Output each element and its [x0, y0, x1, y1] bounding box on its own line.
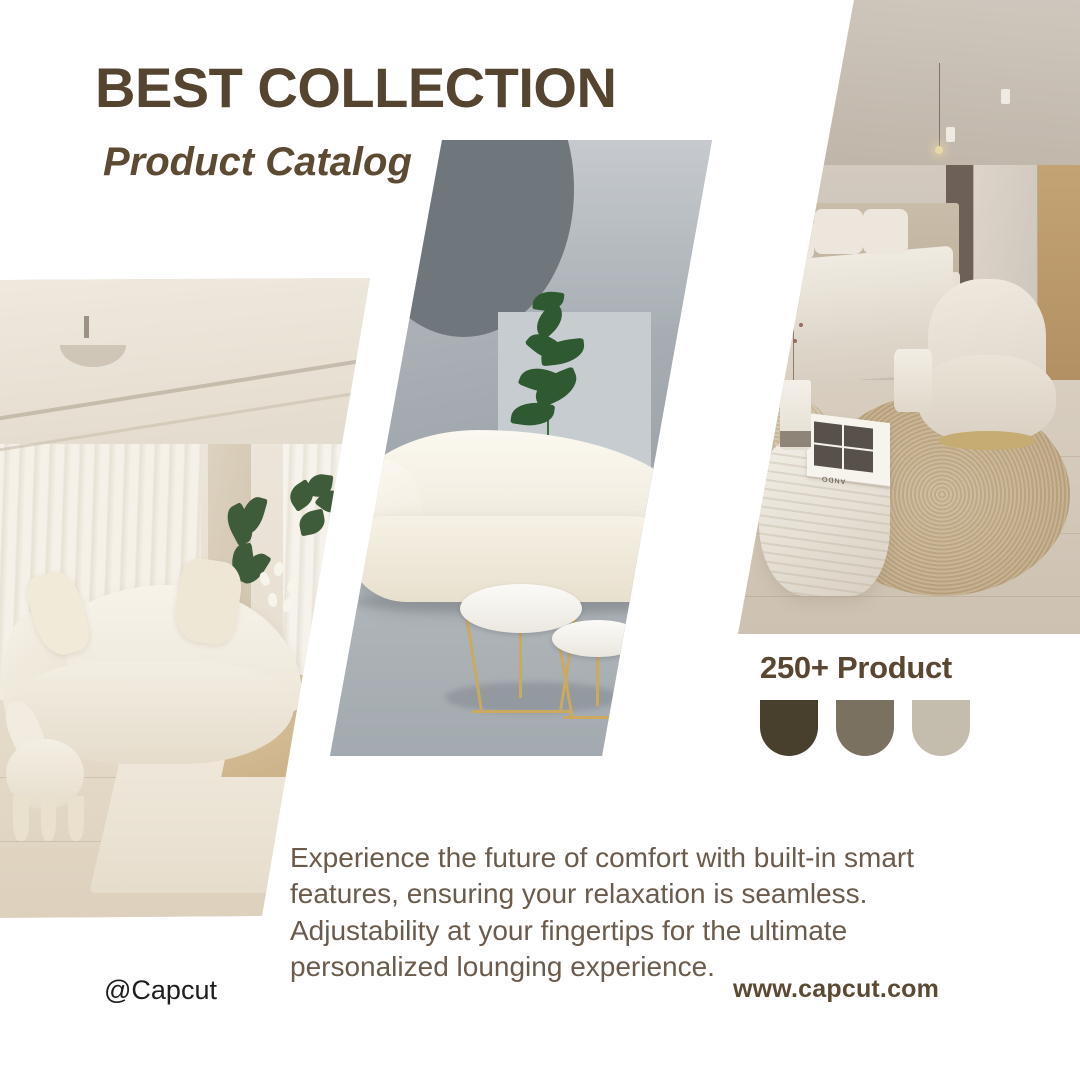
right-pillow-1: [766, 216, 814, 260]
right-small-stool: [894, 349, 932, 412]
right-dried-twig: [793, 317, 794, 387]
right-floor-line-3: [738, 596, 1080, 597]
right-pillow-2: [814, 209, 862, 253]
center-small-marble-table: [552, 620, 644, 657]
color-swatch-taupe[interactable]: [836, 700, 894, 756]
page-subtitle: Product Catalog: [103, 142, 616, 182]
right-spotlight-1: [1001, 89, 1010, 104]
left-pouf-leg-2: [41, 796, 57, 841]
social-handle: @Capcut: [104, 975, 217, 1006]
right-pendant-light: [935, 146, 943, 154]
poster-canvas: BEST COLLECTION Product Catalog: [0, 0, 1080, 1080]
website-url[interactable]: www.capcut.com: [733, 975, 939, 1004]
right-vase-band: [780, 431, 811, 447]
right-spotlight-2: [946, 127, 955, 142]
right-pendant-wire: [939, 63, 940, 152]
left-scene: [0, 278, 380, 918]
photo-panel-right-bedroom: ANDO: [738, 0, 1080, 634]
right-pillow-3: [863, 209, 908, 253]
right-twig-bud-1: [790, 311, 794, 315]
page-title: BEST COLLECTION: [95, 60, 616, 116]
photo-panel-center-sofa-studio: [330, 140, 712, 756]
center-scene: [330, 140, 712, 756]
header: BEST COLLECTION Product Catalog: [95, 60, 616, 182]
description-paragraph: Experience the future of comfort with bu…: [290, 840, 960, 986]
right-scene: ANDO: [738, 0, 1080, 634]
color-swatch-group: [760, 700, 970, 756]
right-book-cover-grid: [814, 421, 873, 473]
right-ceiling: [738, 0, 1080, 165]
left-potted-plant: [286, 470, 348, 572]
left-lamp-rod: [84, 316, 89, 338]
color-swatch-dark-brown[interactable]: [760, 700, 818, 756]
product-count-block: 250+ Product: [760, 650, 970, 756]
right-twig-bud-2: [799, 323, 803, 327]
right-lounge-chair-base: [939, 431, 1036, 450]
product-count-label: 250+ Product: [760, 650, 970, 686]
left-pouf-leg-1: [13, 796, 29, 841]
color-swatch-light-beige[interactable]: [912, 700, 970, 756]
left-pouf-leg-3: [68, 796, 84, 841]
photo-panel-left-living-room: [0, 278, 380, 918]
